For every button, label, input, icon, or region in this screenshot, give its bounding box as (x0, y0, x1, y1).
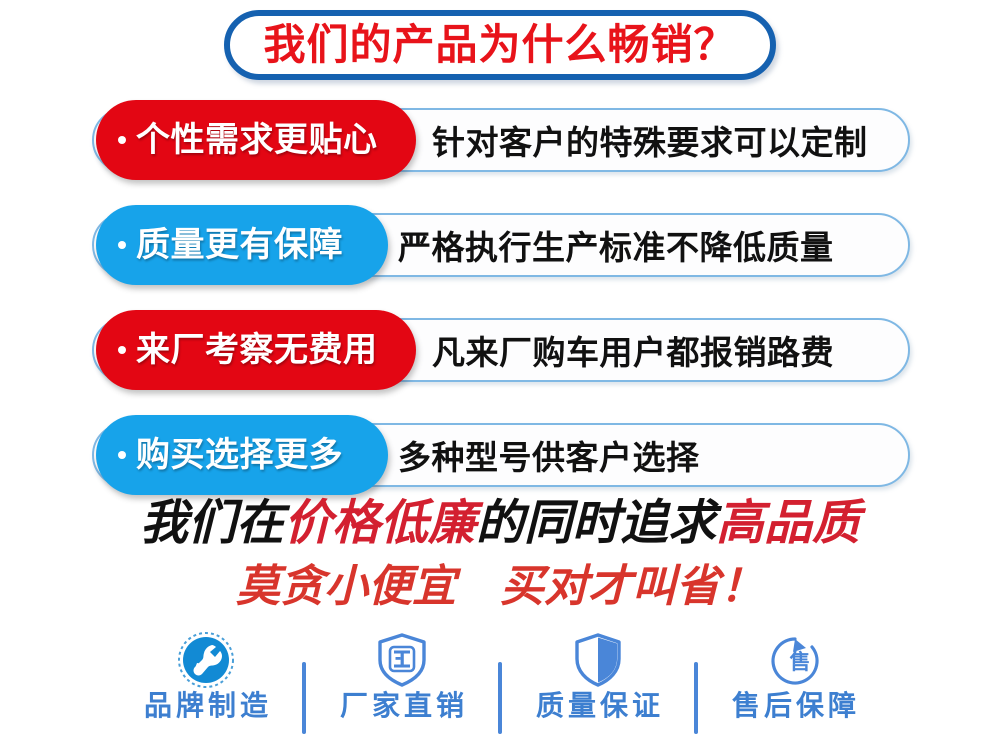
slogan-text-highlight-1: 价格低廉 (284, 497, 476, 550)
trust-badge-label: 厂家直销 (336, 692, 468, 720)
bullet-dot-icon (118, 346, 126, 354)
feature-row: 质量更有保障 严格执行生产标准不降低质量 (0, 205, 1000, 285)
trust-badge-bar: 品牌制造 厂家直销 (0, 628, 1000, 746)
feature-row: 购买选择更多 多种型号供客户选择 (0, 415, 1000, 495)
feature-description: 多种型号供客户选择 (398, 415, 700, 495)
globe-wrench-icon (176, 628, 236, 692)
feature-tag-label: 个性需求更贴心 (136, 123, 378, 157)
trust-badge-label: 质量保证 (532, 692, 664, 720)
page-title-capsule: 我们的产品为什么畅销？ (224, 10, 776, 80)
feature-list: 个性需求更贴心 针对客户的特殊要求可以定制 质量更有保障 严格执行生产标准不降低… (0, 100, 1000, 520)
bullet-dot-icon (118, 136, 126, 144)
feature-description: 严格执行生产标准不降低质量 (398, 205, 834, 285)
bullet-dot-icon (118, 451, 126, 459)
trust-badge-after-sales: 售 售后保障 (698, 628, 890, 746)
slogan-text-plain-1: 我们在 (140, 497, 284, 550)
refresh-shou-icon: 售 (764, 628, 824, 692)
trust-badge-label: 售后保障 (728, 692, 860, 720)
feature-tag-pill: 购买选择更多 (96, 415, 388, 495)
trust-badge-factory-direct: 厂家直销 (306, 628, 498, 746)
feature-tag-label: 来厂考察无费用 (136, 333, 378, 367)
bullet-dot-icon (118, 241, 126, 249)
feature-description: 凡来厂购车用户都报销路费 (432, 310, 834, 390)
trust-badge-label: 品牌制造 (140, 692, 272, 720)
slogan-line-2: 莫贪小便宜 买对才叫省！ (0, 565, 1000, 609)
shield-half-icon (572, 628, 624, 692)
feature-tag-pill: 个性需求更贴心 (96, 100, 416, 180)
promo-poster: 我们的产品为什么畅销？ 个性需求更贴心 针对客户的特殊要求可以定制 质量更有保障… (0, 0, 1000, 750)
feature-tag-label: 购买选择更多 (136, 438, 343, 472)
trust-badge-brand: 品牌制造 (110, 628, 302, 746)
shield-zheng-icon (374, 628, 430, 692)
slogan-text-plain-2: 的同时追求 (476, 497, 716, 550)
slogan-line-1: 我们在价格低廉的同时追求高品质 (0, 500, 1000, 548)
slogan-text-highlight-2: 高品质 (716, 497, 860, 550)
feature-row: 个性需求更贴心 针对客户的特殊要求可以定制 (0, 100, 1000, 180)
feature-tag-label: 质量更有保障 (136, 228, 343, 262)
feature-tag-pill: 质量更有保障 (96, 205, 388, 285)
svg-text:售: 售 (790, 650, 811, 674)
feature-row: 来厂考察无费用 凡来厂购车用户都报销路费 (0, 310, 1000, 390)
page-title: 我们的产品为什么畅销？ (263, 24, 736, 66)
feature-description: 针对客户的特殊要求可以定制 (432, 100, 868, 180)
trust-badge-quality: 质量保证 (502, 628, 694, 746)
feature-tag-pill: 来厂考察无费用 (96, 310, 416, 390)
